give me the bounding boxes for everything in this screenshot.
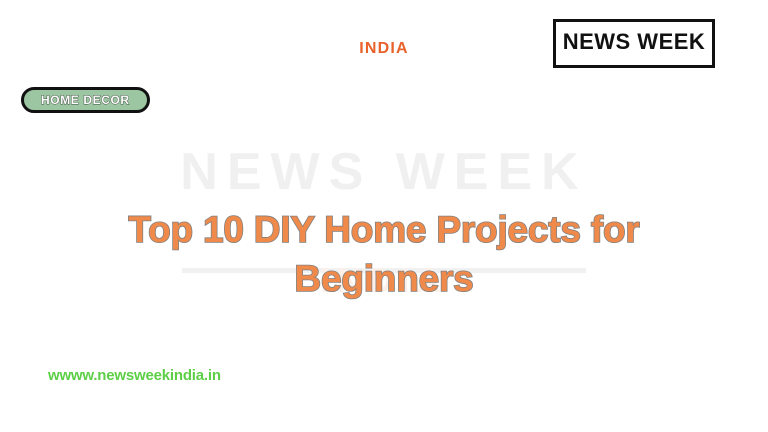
- brand-logo-subtitle: INDIA: [354, 41, 414, 57]
- thumbnail-canvas: NEWS WEEK INDIA NEWS WEEK INDIA HOME DEC…: [0, 0, 768, 432]
- site-url-label[interactable]: wwww.newsweekindia.in: [48, 368, 221, 383]
- watermark-newsweek-text: NEWS WEEK: [0, 146, 768, 198]
- category-badge[interactable]: HOME DECOR: [21, 87, 150, 113]
- brand-logo-subtitle-wrap: INDIA: [0, 38, 768, 60]
- page-title: Top 10 DIY Home Projects for Beginners: [44, 206, 724, 304]
- category-badge-label: HOME DECOR: [41, 94, 130, 106]
